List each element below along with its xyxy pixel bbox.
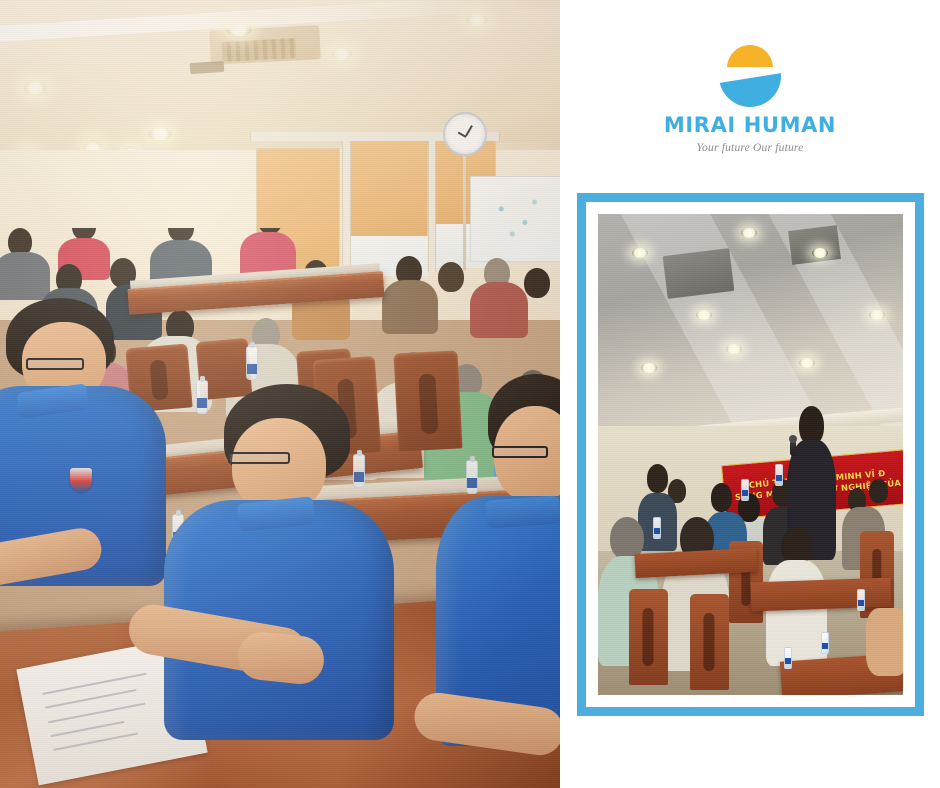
audience-head — [711, 483, 732, 512]
water-bottle — [784, 647, 792, 669]
water-bottle — [775, 464, 783, 486]
eyeglasses-icon — [26, 358, 84, 370]
downlight-icon — [148, 128, 172, 140]
sunrise-over-water-logo-icon — [719, 45, 781, 107]
audience-hand — [866, 608, 903, 675]
desk — [750, 577, 891, 611]
inset-photo-frame: CHỦ TỊCH HỒ CHÍ MINH VĨ Đ SỐNG MÃI TRONG… — [577, 193, 924, 716]
downlight-icon — [726, 344, 742, 354]
water-bottle — [857, 589, 865, 611]
water-bottle — [653, 517, 661, 539]
downlight-icon — [632, 248, 648, 258]
downlight-icon — [466, 14, 488, 26]
audience-body — [470, 282, 528, 338]
downlight-icon — [812, 248, 828, 258]
audience-head — [524, 268, 550, 298]
downlight-icon — [226, 22, 252, 36]
air-conditioner-icon — [788, 226, 841, 265]
audience-head — [869, 479, 887, 503]
audience-body — [382, 280, 438, 334]
air-conditioner-icon — [663, 249, 735, 300]
water-bottle — [821, 632, 829, 654]
audience-head — [438, 262, 464, 292]
inset-photo-matte: CHỦ TỊCH HỒ CHÍ MINH VĨ Đ SỐNG MÃI TRONG… — [586, 202, 915, 707]
collar — [485, 495, 560, 528]
microphone-icon — [790, 440, 796, 456]
water-bottle — [466, 460, 478, 494]
downlight-icon — [24, 82, 46, 95]
face — [232, 418, 326, 512]
water-bottle — [353, 454, 365, 488]
chair-back — [690, 594, 730, 690]
water-bottle — [741, 479, 749, 501]
inset-photo: CHỦ TỊCH HỒ CHÍ MINH VĨ Đ SỐNG MÃI TRONG… — [598, 214, 903, 695]
brand-logo: MIRAI HUMAN Your future Our future — [560, 45, 940, 154]
downlight-icon — [696, 310, 712, 320]
downlight-icon — [641, 363, 657, 373]
wall-clock-icon — [443, 112, 487, 156]
brand-name: MIRAI HUMAN — [560, 113, 940, 137]
air-vent-secondary — [190, 61, 225, 74]
air-vent-icon — [222, 38, 297, 62]
slide-canvas: MIRAI HUMAN Your future Our future — [0, 0, 940, 788]
water-icon — [719, 67, 781, 107]
audience-body — [766, 560, 827, 666]
downlight-icon — [332, 48, 352, 60]
audience-body — [0, 252, 50, 300]
chair-back — [393, 350, 462, 451]
main-photo — [0, 0, 560, 788]
right-panel: MIRAI HUMAN Your future Our future — [560, 0, 940, 788]
water-bottle — [196, 380, 208, 414]
brand-tagline: Your future Our future — [560, 142, 940, 154]
audience-head — [647, 464, 668, 493]
eyeglasses-icon — [228, 452, 290, 464]
chair-back — [629, 589, 669, 685]
eyeglasses-icon — [492, 446, 548, 458]
water-bottle — [246, 346, 258, 380]
uniform-emblem — [70, 468, 92, 492]
